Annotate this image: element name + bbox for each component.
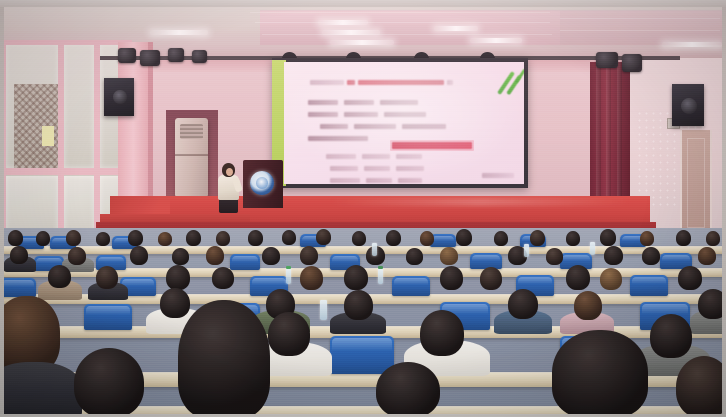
ceiling-light: [470, 38, 522, 43]
image-top-border: [0, 0, 726, 7]
audience-head: [166, 265, 190, 290]
image-right-border: [722, 0, 726, 417]
ceiling-grid-line: [560, 30, 720, 31]
air-conditioner-vent: [180, 124, 203, 139]
slide-line: [308, 112, 508, 117]
water-bottle: [286, 268, 291, 284]
audience-head: [566, 231, 580, 246]
ceiling-grid-line: [250, 12, 550, 13]
audience-head: [574, 291, 602, 320]
audience-head: [66, 230, 81, 246]
stage-spotlight: [140, 50, 160, 66]
audience-head: [8, 230, 23, 246]
audience-head: [566, 265, 590, 290]
auditorium-photo: [0, 0, 726, 417]
audience-head: [650, 314, 692, 358]
loudspeaker: [104, 78, 134, 116]
audience-head: [640, 231, 654, 246]
ceiling-light: [434, 26, 478, 31]
audience-head: [48, 265, 71, 288]
ceiling-light: [662, 42, 722, 47]
bottle-cap: [286, 266, 291, 269]
audience-head: [206, 246, 224, 265]
audience-head: [440, 266, 463, 290]
window-frame: [58, 40, 64, 246]
audience-head: [480, 267, 502, 290]
water-bottle: [320, 300, 327, 320]
audience-head: [494, 231, 508, 246]
presenter-face: [226, 168, 233, 176]
loudspeaker: [672, 84, 704, 126]
audience-head: [300, 246, 318, 265]
audience-head: [406, 248, 423, 265]
stage-spotlight: [192, 50, 207, 63]
stage-highlight: [330, 198, 630, 206]
audience-head: [248, 230, 263, 246]
window-frame: [0, 40, 132, 45]
audience-head: [420, 231, 434, 246]
audience-head: [386, 230, 401, 246]
water-bottle: [372, 243, 377, 256]
audience-head: [604, 246, 623, 265]
audience-head: [130, 246, 148, 265]
audience-head: [282, 230, 296, 245]
slide-line: [330, 178, 508, 183]
audience-head: [96, 266, 118, 289]
audience-head: [68, 247, 86, 265]
water-bottle: [378, 268, 383, 284]
door-panel: [687, 138, 705, 228]
audience-head: [600, 268, 622, 290]
audience-head: [186, 230, 201, 246]
audience-head: [440, 247, 458, 265]
bottle-cap: [378, 266, 383, 269]
auditorium-seat: [0, 278, 36, 297]
ceiling-grid-line: [262, 34, 552, 35]
window-pane: [64, 44, 94, 168]
audience-head: [128, 230, 143, 246]
audience-head-foreground: [178, 300, 270, 417]
presentation-slide: [284, 62, 524, 184]
ceiling-light: [150, 30, 208, 35]
audience-head: [36, 231, 50, 246]
slide-line: [326, 154, 508, 159]
water-bottle: [590, 242, 595, 255]
ceiling-light: [322, 30, 380, 35]
auditorium-seat: [470, 253, 502, 269]
audience-head: [268, 312, 310, 356]
stage-spotlight: [118, 48, 136, 63]
audience-head: [600, 229, 616, 246]
audience-head: [508, 289, 538, 319]
audience-head: [212, 267, 234, 289]
ceiling-light: [318, 20, 368, 25]
slide-highlight-text: [392, 142, 472, 149]
audience-head: [546, 248, 563, 265]
audience-head: [420, 310, 464, 356]
air-conditioner: [175, 118, 208, 196]
audience-head: [352, 231, 366, 246]
auditorium-seat: [392, 276, 430, 296]
audience-shoulders-foreground: [0, 362, 82, 417]
audience-head: [160, 288, 190, 318]
lectern-emblem-core-icon: [256, 177, 268, 189]
audience-head: [158, 232, 172, 246]
audience-head: [10, 246, 28, 264]
audience-head: [344, 290, 373, 320]
auditorium-seat: [330, 336, 394, 374]
audience-head: [698, 247, 716, 265]
ceiling-grid-line: [255, 22, 550, 23]
slide-line: [330, 166, 508, 171]
slide-signature: [482, 173, 514, 178]
slide-line: [308, 100, 508, 105]
audience-head: [316, 229, 331, 245]
audience-head: [96, 232, 110, 246]
auditorium-seat: [630, 275, 668, 296]
auditorium-seat: [230, 254, 260, 270]
audience-head: [172, 248, 189, 265]
stage-spotlight: [596, 52, 618, 68]
window-notice: [42, 126, 54, 146]
ceiling-grid-line: [560, 18, 720, 19]
audience-head: [216, 231, 230, 246]
audience-head: [642, 247, 660, 265]
window-frame: [0, 168, 132, 175]
audience-head: [262, 247, 280, 265]
water-bottle: [524, 244, 529, 257]
image-left-border: [0, 0, 4, 417]
stage-spotlight: [622, 54, 642, 72]
ceiling-light: [330, 40, 394, 45]
stage-spotlight: [168, 48, 184, 62]
audience-head-foreground: [676, 356, 726, 417]
audience-head: [344, 265, 368, 290]
audience-head: [678, 266, 702, 290]
audience-head: [676, 230, 691, 246]
audience-head-foreground: [74, 348, 144, 417]
audience-head: [456, 229, 472, 246]
auditorium-seat: [84, 304, 132, 330]
audience-head: [300, 266, 323, 290]
slide-title: [310, 80, 510, 85]
audience-head-foreground: [552, 330, 648, 417]
exit-door[interactable]: [680, 130, 712, 236]
air-conditioner-seam: [175, 154, 208, 156]
audience-head: [706, 231, 720, 246]
audience-head-foreground: [376, 362, 440, 417]
ceiling-panel: [560, 10, 726, 45]
slide-line: [320, 124, 508, 129]
audience-head: [530, 230, 545, 246]
